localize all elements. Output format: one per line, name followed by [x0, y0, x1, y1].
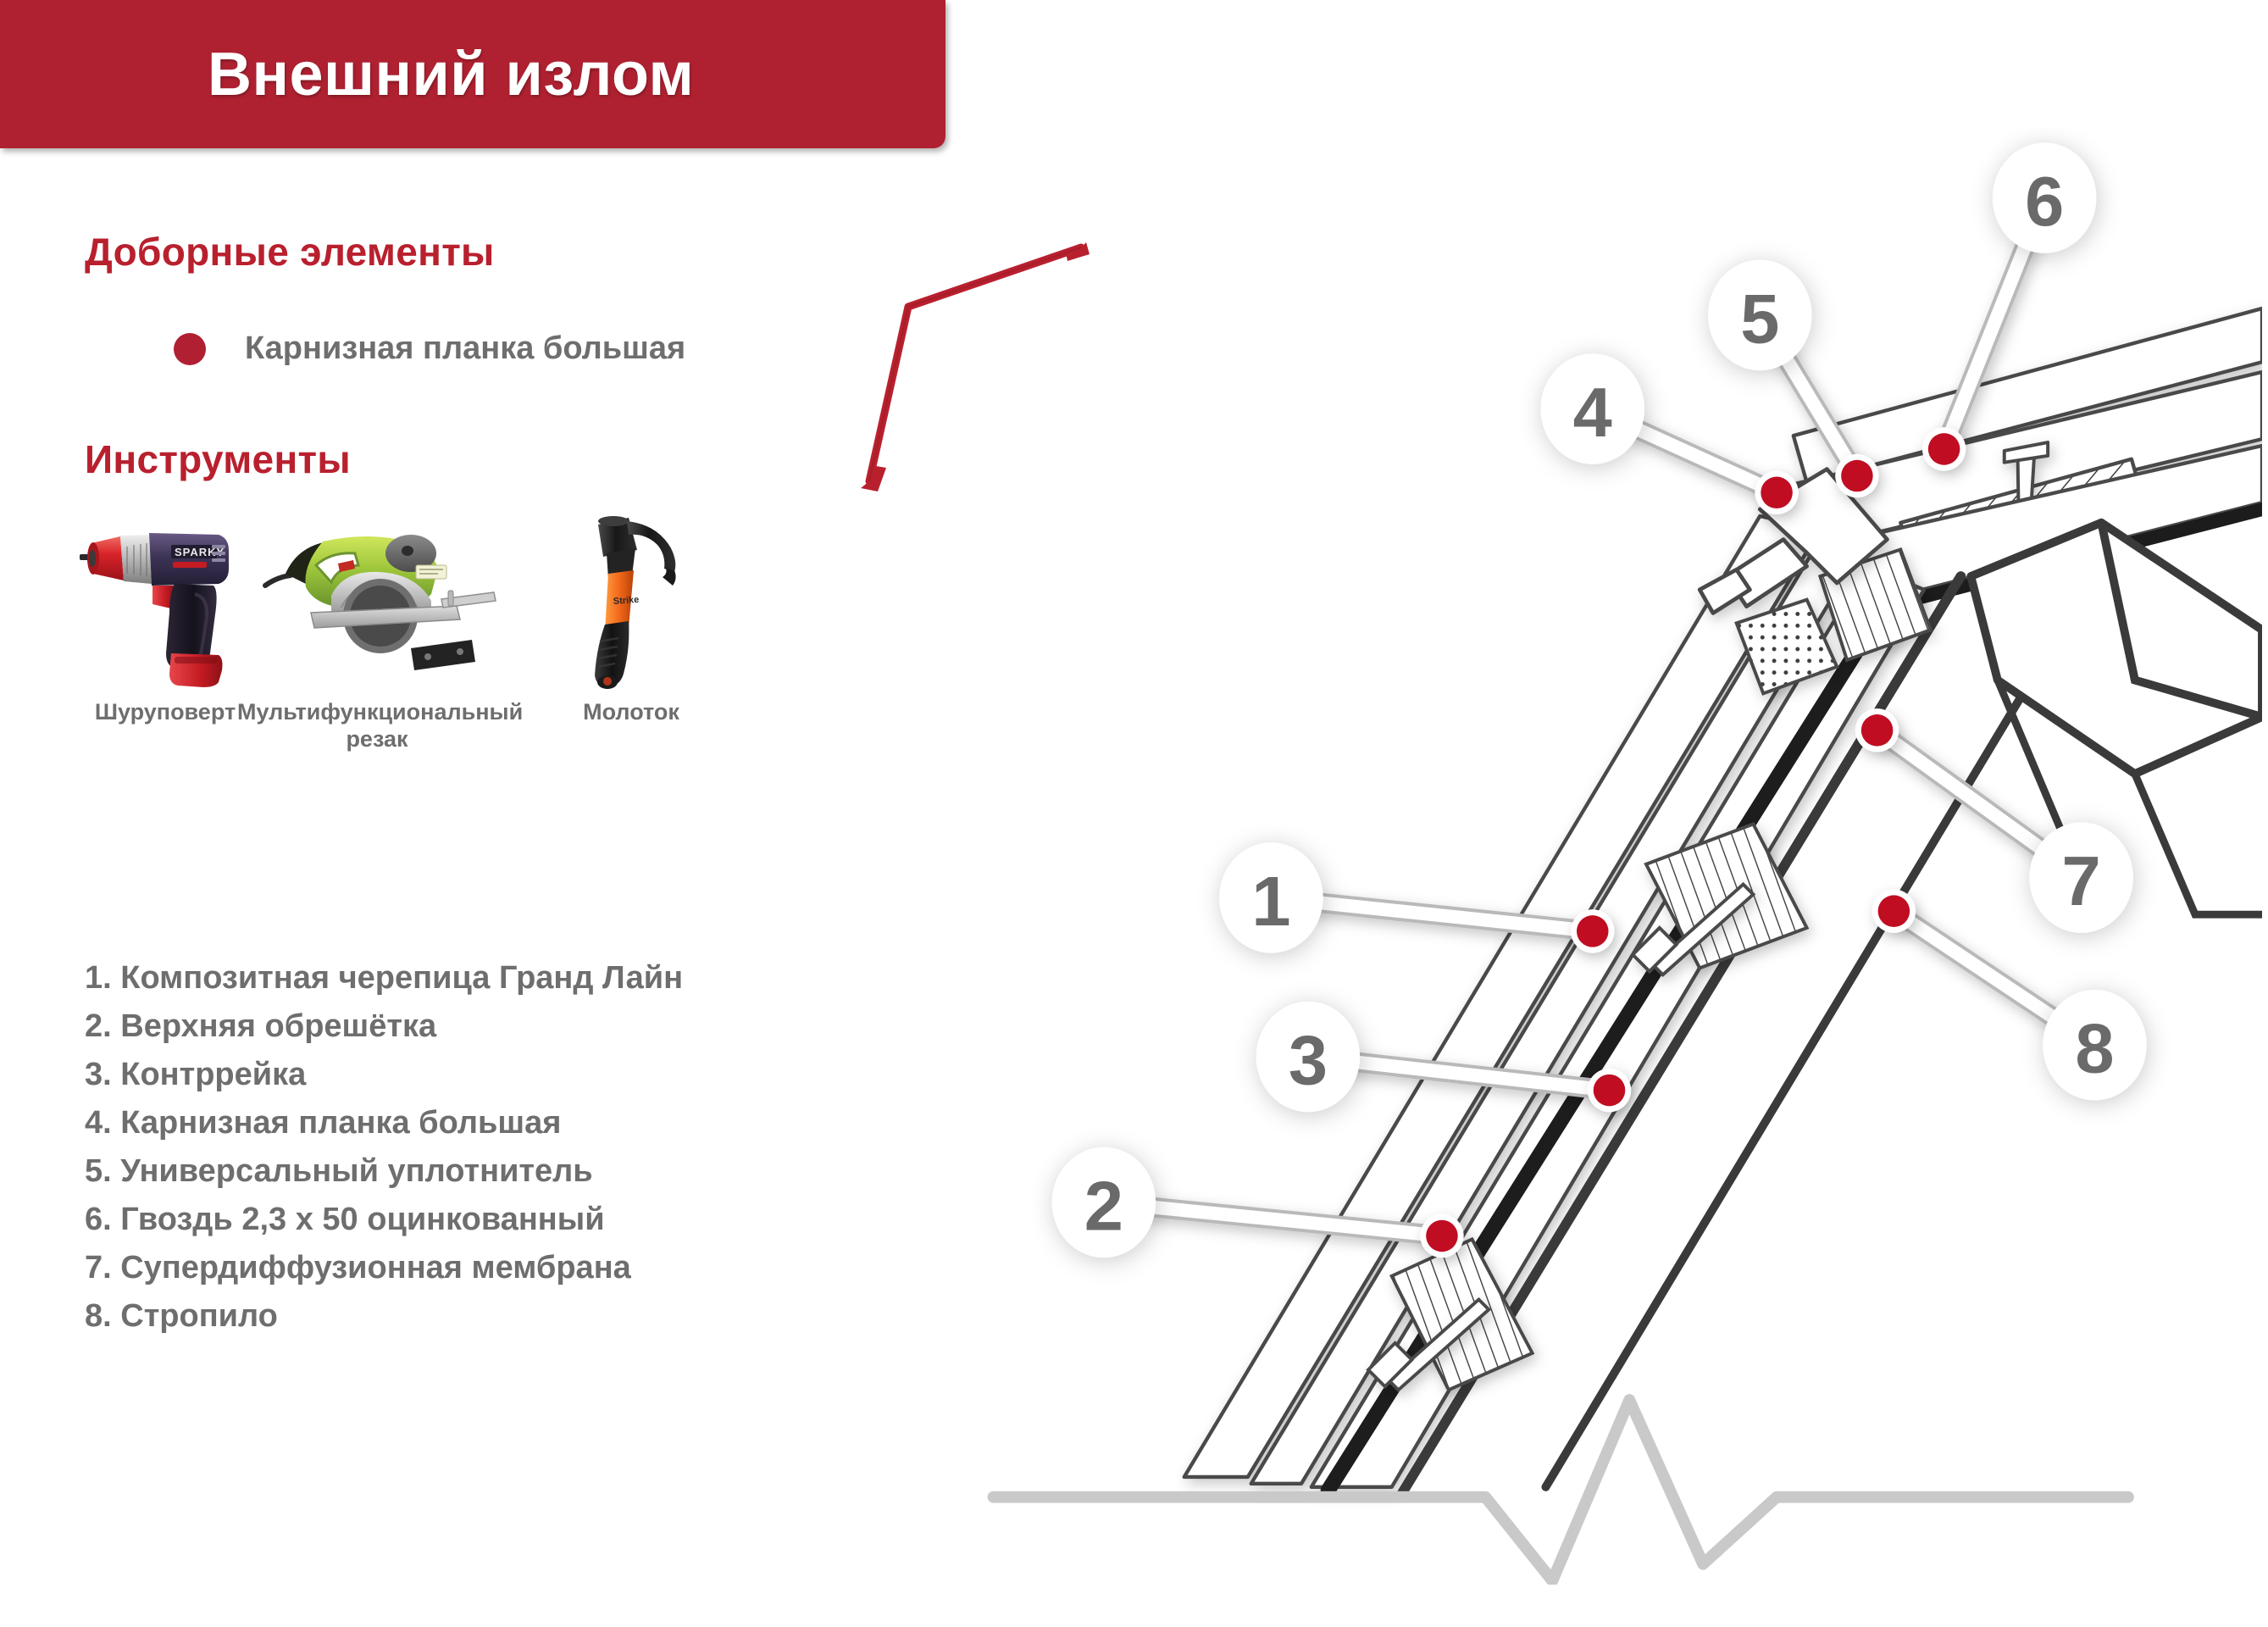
- callout-4[interactable]: 4: [1541, 353, 1644, 464]
- callout-7[interactable]: 7: [2029, 822, 2132, 932]
- tool-caption: Шуруповерт: [68, 699, 263, 726]
- tool-claw-hammer: Strike: [508, 513, 762, 695]
- left-column: Доборные элементы Карнизная планка больш…: [0, 148, 949, 1627]
- circular-saw-icon: [250, 513, 504, 695]
- accessory-item-label: Карнизная планка большая: [245, 330, 685, 367]
- legend-item: 1. Композитная черепица Гранд Лайн: [85, 962, 915, 994]
- page-title: Внешний излом: [208, 44, 694, 105]
- callout-5[interactable]: 5: [1708, 260, 1811, 370]
- tool-cordless-drill: SPARKY: [68, 513, 263, 695]
- callout-number: 7: [2062, 841, 2101, 920]
- callout-2[interactable]: 2: [1052, 1147, 1156, 1258]
- legend-item: 3. Контррейка: [85, 1058, 915, 1091]
- callout-1[interactable]: 1: [1219, 842, 1323, 952]
- legend-list: 1. Композитная черепица Гранд Лайн 2. Ве…: [85, 962, 915, 1348]
- accessories-heading: Доборные элементы: [85, 229, 495, 275]
- tool-caption: Мультифункциональный резак: [237, 699, 517, 753]
- callout-number: 8: [2075, 1009, 2114, 1088]
- svg-text:Strike: Strike: [613, 595, 639, 607]
- legend-item: 2. Верхняя обрешётка: [85, 1010, 915, 1042]
- callout-number: 2: [1084, 1166, 1123, 1245]
- accessory-item: Карнизная планка большая: [174, 330, 685, 367]
- bullet-dot-icon: [174, 333, 206, 365]
- callout-number: 1: [1251, 862, 1290, 941]
- callout-number: 3: [1289, 1021, 1328, 1100]
- legend-item: 8. Стропило: [85, 1300, 915, 1332]
- tools-heading: Инструменты: [85, 436, 351, 482]
- callout-3[interactable]: 3: [1256, 1002, 1360, 1112]
- callout-8[interactable]: 8: [2043, 990, 2146, 1100]
- legend-item: 5. Универсальный уплотнитель: [85, 1155, 915, 1187]
- claw-hammer-icon: Strike: [508, 513, 762, 695]
- tool-caption: Молоток: [491, 699, 771, 726]
- callout-6[interactable]: 6: [1993, 142, 2096, 253]
- slide-root: Внешний излом Доборные элементы Карнизна…: [0, 0, 2268, 1627]
- callout-number: 5: [1740, 279, 1779, 358]
- legend-item: 7. Супердиффузионная мембрана: [85, 1252, 915, 1284]
- callout-number: 6: [2025, 162, 2064, 241]
- legend-item: 6. Гвоздь 2,3 х 50 оцинкованный: [85, 1203, 915, 1236]
- cordless-drill-icon: SPARKY: [68, 513, 263, 695]
- callout-number: 4: [1573, 373, 1612, 452]
- tools-gallery: SPARKY Шуру: [68, 513, 915, 750]
- legend-item: 4. Карнизная планка большая: [85, 1107, 915, 1139]
- eaves-strip-profile-sketch: [813, 212, 1169, 517]
- tool-circular-saw: [250, 513, 504, 695]
- header-banner: Внешний излом: [0, 0, 945, 148]
